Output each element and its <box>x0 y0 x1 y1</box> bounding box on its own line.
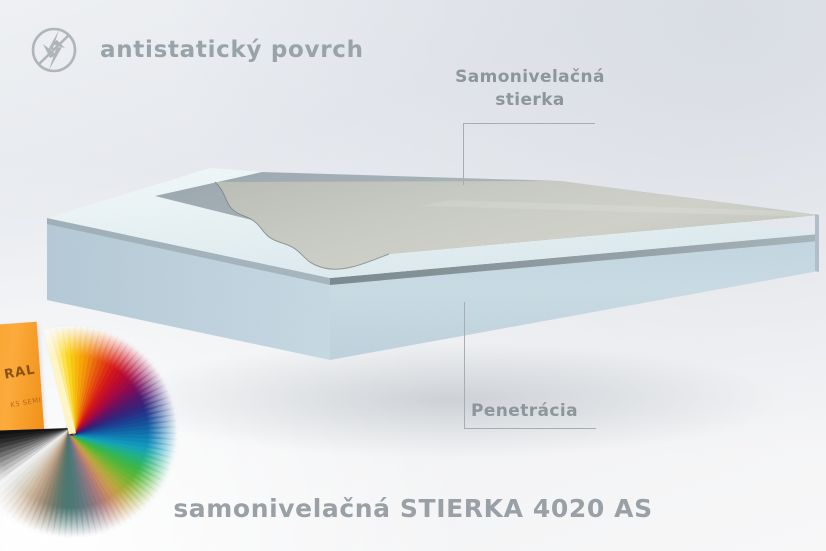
antistatic-caption: antistatický povrch <box>100 37 364 63</box>
antistatic-no-charge-icon <box>26 22 82 78</box>
leader-line-screed-vertical <box>463 123 464 185</box>
ral-sublabel: K5 SEMI <box>10 396 42 409</box>
leader-line-screed-horizontal <box>463 123 595 124</box>
slab-right-corner <box>815 214 819 272</box>
product-illustration: RAL K5 SEMI antistatický povrch Samonive… <box>0 0 826 551</box>
ral-logo: RAL <box>3 362 36 382</box>
leader-line-primer-horizontal <box>464 428 596 429</box>
label-primer: Penetrácia <box>471 400 631 423</box>
leader-line-primer-vertical <box>464 302 465 429</box>
antistatic-badge: antistatický povrch <box>26 22 364 78</box>
slab-shadow <box>120 342 780 458</box>
label-screed: Samonivelačná stierka <box>452 66 608 113</box>
